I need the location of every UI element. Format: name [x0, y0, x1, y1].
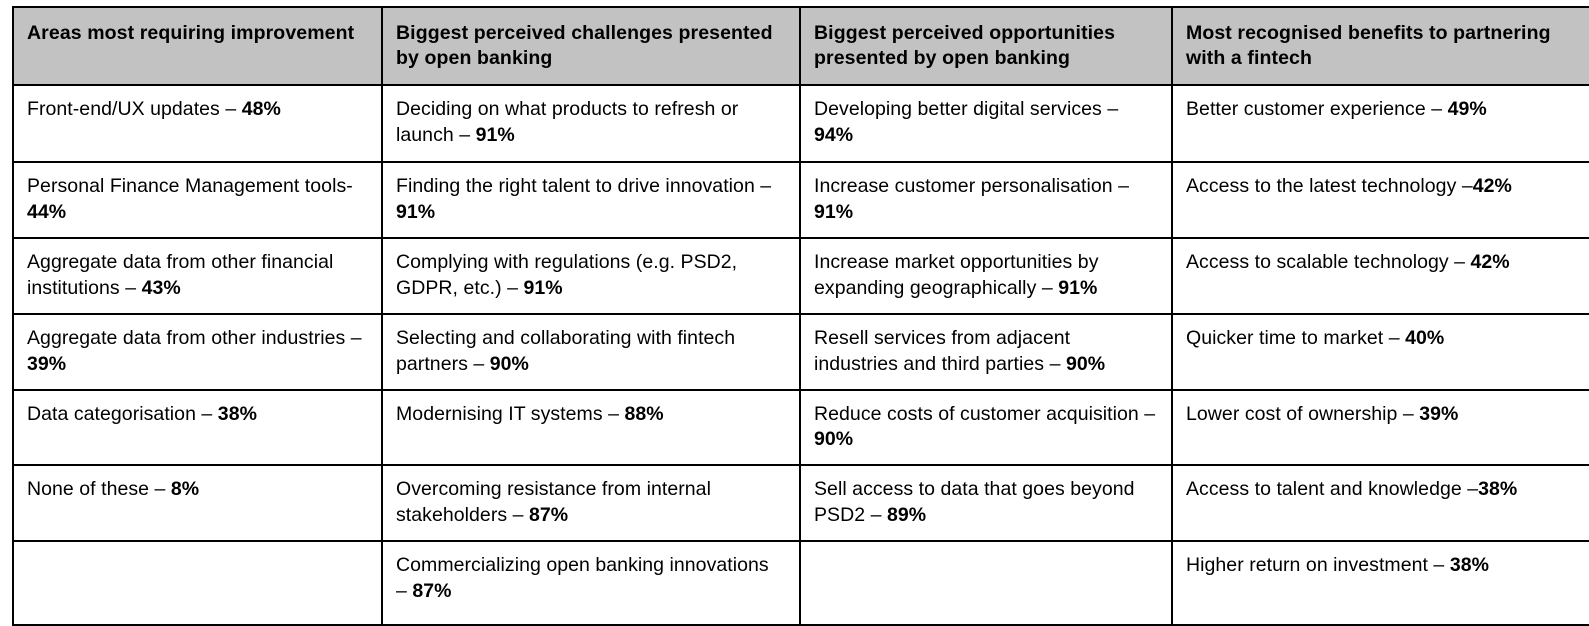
item-value: 91%: [396, 201, 435, 223]
item-label: Better customer experience –: [1186, 98, 1448, 120]
item-label: Front-end/UX updates –: [27, 98, 242, 120]
cell-challenge-3: Complying with regulations (e.g. PSD2, G…: [382, 238, 800, 314]
cell-opportunity-4: Resell services from adjacent industries…: [800, 314, 1172, 390]
item-value: 39%: [1419, 403, 1458, 425]
cell-improvement-4: Aggregate data from other industries – 3…: [13, 314, 382, 390]
item-label: Data categorisation –: [27, 403, 218, 425]
cell-benefit-2: Access to the latest technology –42%: [1172, 162, 1589, 238]
table-header: Areas most requiring improvement Biggest…: [13, 7, 1589, 85]
item-label: Resell services from adjacent industries…: [814, 327, 1070, 375]
cell-benefit-6: Access to talent and knowledge –38%: [1172, 465, 1589, 541]
item-label: Modernising IT systems –: [396, 403, 624, 425]
item-label: Reduce costs of customer acquisition –: [814, 403, 1155, 425]
item-label: Sell access to data that goes beyond PSD…: [814, 478, 1135, 526]
item-value: 38%: [1478, 478, 1517, 500]
cell-challenge-1: Deciding on what products to refresh or …: [382, 85, 800, 162]
cell-opportunity-1: Developing better digital services –94%: [800, 85, 1172, 162]
column-header-most-recognised-benefits: Most recognised benefits to partnering w…: [1172, 7, 1589, 85]
item-value: 43%: [142, 277, 181, 299]
item-label: Increase market opportunities by expandi…: [814, 251, 1099, 299]
column-header-biggest-perceived-challenges: Biggest perceived challenges presented b…: [382, 7, 800, 85]
item-value: 88%: [624, 403, 663, 425]
cell-opportunity-3: Increase market opportunities by expandi…: [800, 238, 1172, 314]
item-value: 91%: [476, 124, 515, 146]
table-row: None of these – 8% Overcoming resistance…: [13, 465, 1589, 541]
cell-benefit-5: Lower cost of ownership – 39%: [1172, 390, 1589, 466]
cell-benefit-7: Higher return on investment – 38%: [1172, 541, 1589, 625]
item-label: Access to scalable technology –: [1186, 251, 1471, 273]
item-value: 40%: [1405, 327, 1444, 349]
item-value: 91%: [523, 277, 562, 299]
item-label: Lower cost of ownership –: [1186, 403, 1419, 425]
item-value: 49%: [1448, 98, 1487, 120]
cell-improvement-1: Front-end/UX updates – 48%: [13, 85, 382, 162]
cell-opportunity-6: Sell access to data that goes beyond PSD…: [800, 465, 1172, 541]
cell-benefit-3: Access to scalable technology – 42%: [1172, 238, 1589, 314]
header-row: Areas most requiring improvement Biggest…: [13, 7, 1589, 85]
item-label: Deciding on what products to refresh or …: [396, 98, 738, 146]
item-value: 94%: [814, 124, 853, 146]
cell-challenge-7: Commercializing open banking innovations…: [382, 541, 800, 625]
cell-opportunity-2: Increase customer personalisation –91%: [800, 162, 1172, 238]
item-value: 90%: [814, 428, 853, 450]
table-row: Data categorisation – 38% Modernising IT…: [13, 390, 1589, 466]
cell-challenge-6: Overcoming resistance from internal stak…: [382, 465, 800, 541]
cell-opportunity-5: Reduce costs of customer acquisition – 9…: [800, 390, 1172, 466]
item-label: Finding the right talent to drive innova…: [396, 175, 771, 197]
table-row: Front-end/UX updates – 48% Deciding on w…: [13, 85, 1589, 162]
cell-improvement-7-empty: [13, 541, 382, 625]
table-row: Commercializing open banking innovations…: [13, 541, 1589, 625]
cell-challenge-4: Selecting and collaborating with fintech…: [382, 314, 800, 390]
item-label: Access to talent and knowledge –: [1186, 478, 1478, 500]
cell-improvement-6: None of these – 8%: [13, 465, 382, 541]
table-row: Aggregate data from other industries – 3…: [13, 314, 1589, 390]
item-label: Personal Finance Management tools-: [27, 175, 353, 197]
item-label: Selecting and collaborating with fintech…: [396, 327, 735, 375]
item-value: 90%: [490, 353, 529, 375]
cell-improvement-5: Data categorisation – 38%: [13, 390, 382, 466]
item-label: Access to the latest technology –: [1186, 175, 1473, 197]
cell-challenge-5: Modernising IT systems – 88%: [382, 390, 800, 466]
item-value: 91%: [1058, 277, 1097, 299]
item-value: 89%: [887, 504, 926, 526]
item-label: Increase customer personalisation –: [814, 175, 1129, 197]
item-value: 38%: [1450, 554, 1489, 576]
cell-benefit-4: Quicker time to market – 40%: [1172, 314, 1589, 390]
table-row: Aggregate data from other financial inst…: [13, 238, 1589, 314]
cell-benefit-1: Better customer experience – 49%: [1172, 85, 1589, 162]
item-label: None of these –: [27, 478, 171, 500]
item-value: 90%: [1066, 353, 1105, 375]
cell-opportunity-7-empty: [800, 541, 1172, 625]
table-body: Front-end/UX updates – 48% Deciding on w…: [13, 85, 1589, 625]
item-value: 44%: [27, 201, 66, 223]
item-value: 87%: [412, 580, 451, 602]
cell-challenge-2: Finding the right talent to drive innova…: [382, 162, 800, 238]
table-row: Personal Finance Management tools-44% Fi…: [13, 162, 1589, 238]
item-value: 48%: [242, 98, 281, 120]
cell-improvement-2: Personal Finance Management tools-44%: [13, 162, 382, 238]
item-value: 91%: [814, 201, 853, 223]
item-label: Aggregate data from other industries –: [27, 327, 362, 349]
item-value: 42%: [1473, 175, 1512, 197]
item-label: Developing better digital services –: [814, 98, 1118, 120]
item-value: 8%: [171, 478, 199, 500]
item-label: Commercializing open banking innovations…: [396, 554, 769, 602]
column-header-biggest-perceived-opportunities: Biggest perceived opportunities presente…: [800, 7, 1172, 85]
item-label: Quicker time to market –: [1186, 327, 1405, 349]
item-value: 38%: [218, 403, 257, 425]
column-header-areas-most-requiring-improvement: Areas most requiring improvement: [13, 7, 382, 85]
item-label: Complying with regulations (e.g. PSD2, G…: [396, 251, 737, 299]
cell-improvement-3: Aggregate data from other financial inst…: [13, 238, 382, 314]
item-value: 39%: [27, 353, 66, 375]
item-value: 87%: [529, 504, 568, 526]
survey-results-table: Areas most requiring improvement Biggest…: [12, 6, 1589, 626]
item-label: Higher return on investment –: [1186, 554, 1450, 576]
item-value: 42%: [1471, 251, 1510, 273]
